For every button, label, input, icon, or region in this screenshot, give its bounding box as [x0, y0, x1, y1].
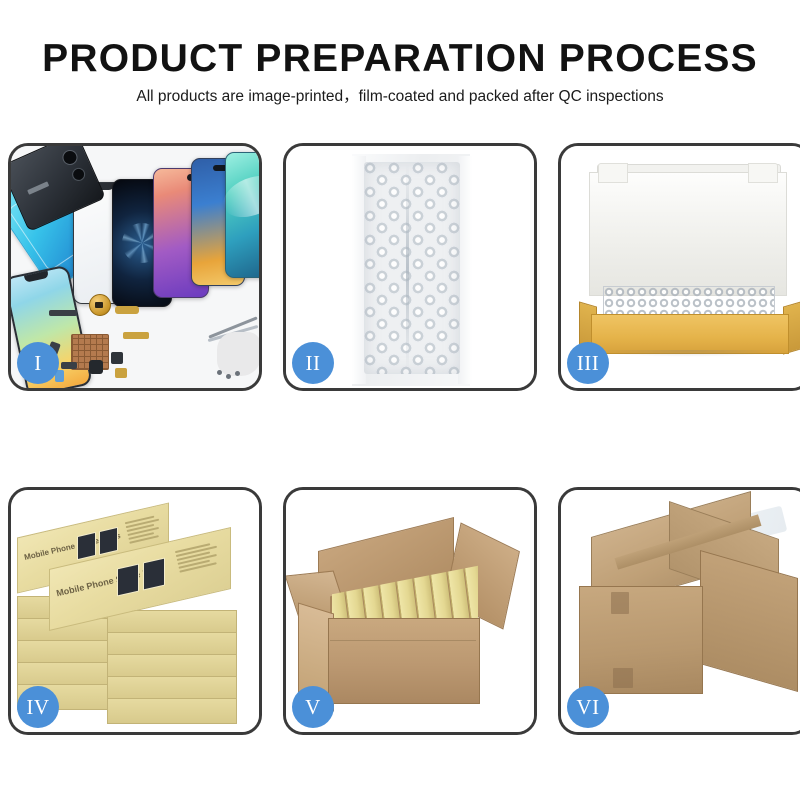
step-badge-4: IV — [17, 686, 59, 728]
page-title: PRODUCT PREPARATION PROCESS — [0, 36, 800, 82]
carton-right-panel — [700, 550, 798, 692]
step-panel-2[interactable]: II — [283, 143, 537, 391]
page-subtitle: All products are image-printed，film-coat… — [0, 87, 800, 107]
flex-cable-part — [61, 362, 77, 369]
process-steps-grid: I II — [0, 143, 800, 743]
carton-seam — [330, 640, 476, 641]
mailer-box-lid — [589, 172, 787, 296]
page-header: PRODUCT PREPARATION PROCESS All products… — [0, 0, 800, 128]
bubble-wrap-edge — [458, 156, 472, 384]
small-component — [89, 360, 103, 374]
carton-front-panel — [328, 618, 480, 704]
carton-handle-tab — [613, 668, 633, 688]
teal-display-screen — [225, 152, 259, 278]
carton-handle-tab — [611, 592, 629, 614]
step-badge-2: II — [292, 342, 334, 384]
small-component — [115, 368, 127, 378]
flex-cable-part — [115, 306, 139, 314]
step-badge-6: VI — [567, 686, 609, 728]
bubble-wrap-bag — [364, 162, 460, 374]
step-panel-1[interactable]: I — [8, 143, 262, 391]
speaker-component — [89, 294, 111, 316]
mailer-box-front-panel — [591, 314, 789, 354]
product-preparation-process-page: PRODUCT PREPARATION PROCESS All products… — [0, 0, 800, 800]
small-component — [111, 352, 123, 364]
screws-group — [217, 370, 243, 384]
step-panel-5[interactable]: V — [283, 487, 537, 735]
step-panel-3[interactable]: III — [558, 143, 800, 391]
box-shadow — [595, 350, 783, 357]
flex-cable-part — [123, 332, 149, 339]
step-panel-4[interactable]: Mobile Phone Spare Parts Mobile Phone Sp… — [8, 487, 262, 735]
step-badge-5: V — [292, 686, 334, 728]
step-badge-1: I — [17, 342, 59, 384]
flex-cable-part — [49, 310, 77, 316]
carton-front-panel — [579, 586, 703, 694]
step-badge-3: III — [567, 342, 609, 384]
bubble-wrap-seam — [406, 164, 409, 372]
step-panel-6[interactable]: VI — [558, 487, 800, 735]
